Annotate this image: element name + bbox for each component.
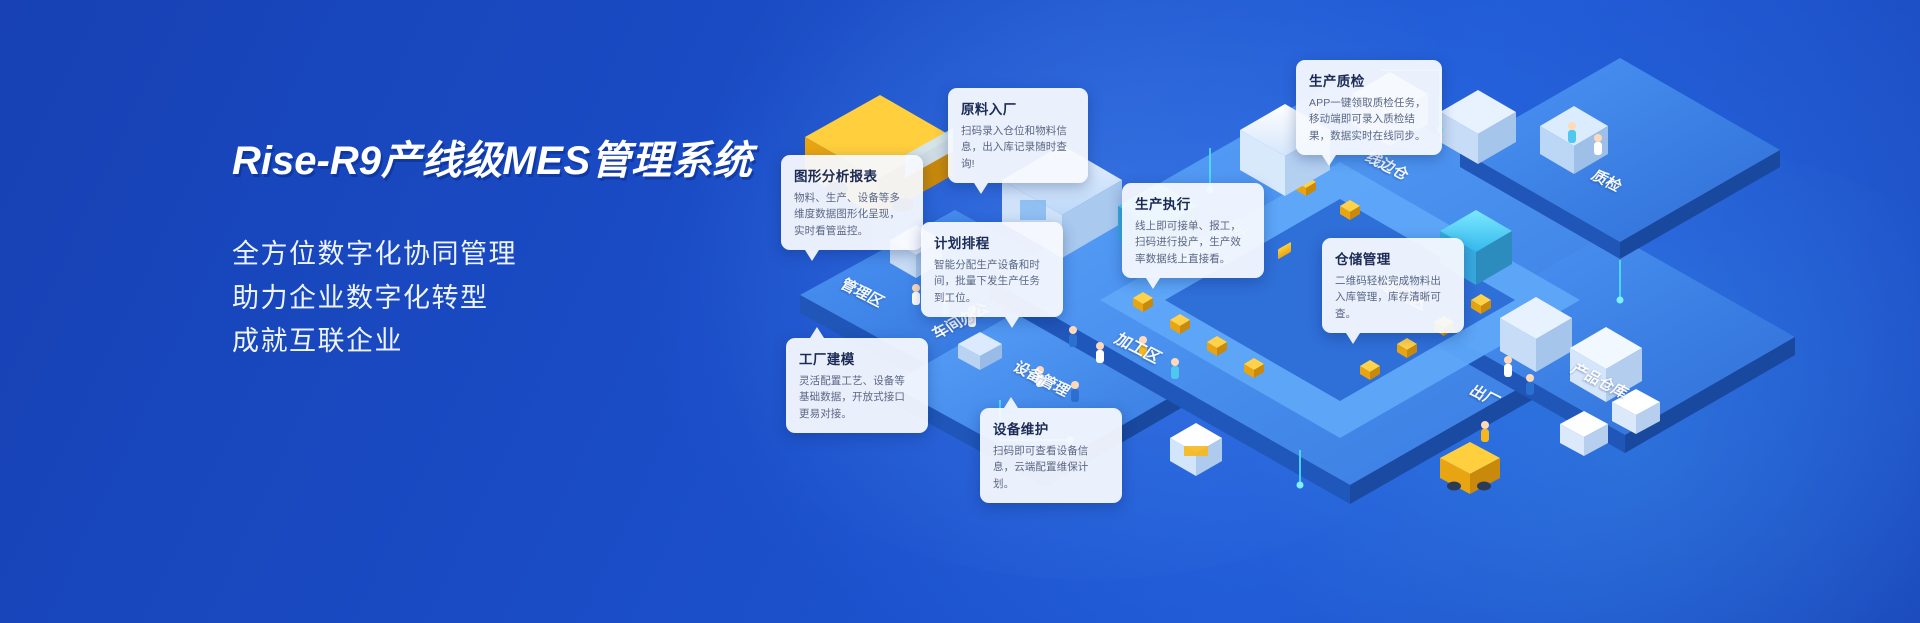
card-body: 灵活配置工艺、设备等基础数据，开放式接口更易对接。 <box>799 373 915 422</box>
callout-card-production-inspection[interactable]: 生产质检 APP一键领取质检任务，移动端即可录入质检结果，数据实时在线同步。 <box>1296 60 1442 155</box>
card-body: 二维码轻松完成物料出入库管理，库存清晰可查。 <box>1335 273 1451 322</box>
card-title: 设备维护 <box>993 418 1109 438</box>
callout-card-production-execution[interactable]: 生产执行 线上即可接单、报工，扫码进行投产，生产效率数据线上直接看。 <box>1122 183 1264 278</box>
callout-card-graph-report[interactable]: 图形分析报表 物料、生产、设备等多维度数据图形化呈现，实时看管监控。 <box>781 155 923 250</box>
callout-card-warehouse-management[interactable]: 仓储管理 二维码轻松完成物料出入库管理，库存清晰可查。 <box>1322 238 1464 333</box>
card-body: 智能分配生产设备和时间，批量下发生产任务到工位。 <box>934 257 1050 306</box>
headline-cn: 产线级MES管理系统 <box>381 139 753 183</box>
card-tail-icon <box>974 183 988 194</box>
card-title: 生产执行 <box>1135 193 1251 213</box>
card-tail-icon <box>1004 397 1018 408</box>
headline-latin: Rise-R9 <box>232 139 381 183</box>
card-tail-icon <box>1322 155 1336 166</box>
card-body: 扫码即可查看设备信息，云端配置维保计划。 <box>993 443 1109 492</box>
card-title: 计划排程 <box>934 232 1050 252</box>
card-title: 仓储管理 <box>1335 248 1451 268</box>
card-tail-icon <box>1146 278 1160 289</box>
card-tail-icon <box>810 327 824 338</box>
hero-banner: Rise-R9产线级MES管理系统 全方位数字化协同管理 助力企业数字化转型 成… <box>0 0 1920 623</box>
callout-card-equipment-maintenance[interactable]: 设备维护 扫码即可查看设备信息，云端配置维保计划。 <box>980 408 1122 503</box>
card-title: 原料入厂 <box>961 98 1075 118</box>
card-body: APP一键领取质检任务，移动端即可录入质检结果，数据实时在线同步。 <box>1309 95 1429 144</box>
callout-card-plan-scheduling[interactable]: 计划排程 智能分配生产设备和时间，批量下发生产任务到工位。 <box>921 222 1063 317</box>
card-body: 扫码录入仓位和物料信息，出入库记录随时查询! <box>961 123 1075 172</box>
card-body: 物料、生产、设备等多维度数据图形化呈现，实时看管监控。 <box>794 190 910 239</box>
callout-card-raw-material-inbound[interactable]: 原料入厂 扫码录入仓位和物料信息，出入库记录随时查询! <box>948 88 1088 183</box>
card-tail-icon <box>805 250 819 261</box>
card-title: 生产质检 <box>1309 70 1429 90</box>
callout-card-factory-modeling[interactable]: 工厂建模 灵活配置工艺、设备等基础数据，开放式接口更易对接。 <box>786 338 928 433</box>
card-title: 工厂建模 <box>799 348 915 368</box>
card-title: 图形分析报表 <box>794 165 910 185</box>
card-tail-icon <box>1005 317 1019 328</box>
card-tail-icon <box>1346 333 1360 344</box>
card-body: 线上即可接单、报工，扫码进行投产，生产效率数据线上直接看。 <box>1135 218 1251 267</box>
forklift-icon <box>1440 442 1500 494</box>
